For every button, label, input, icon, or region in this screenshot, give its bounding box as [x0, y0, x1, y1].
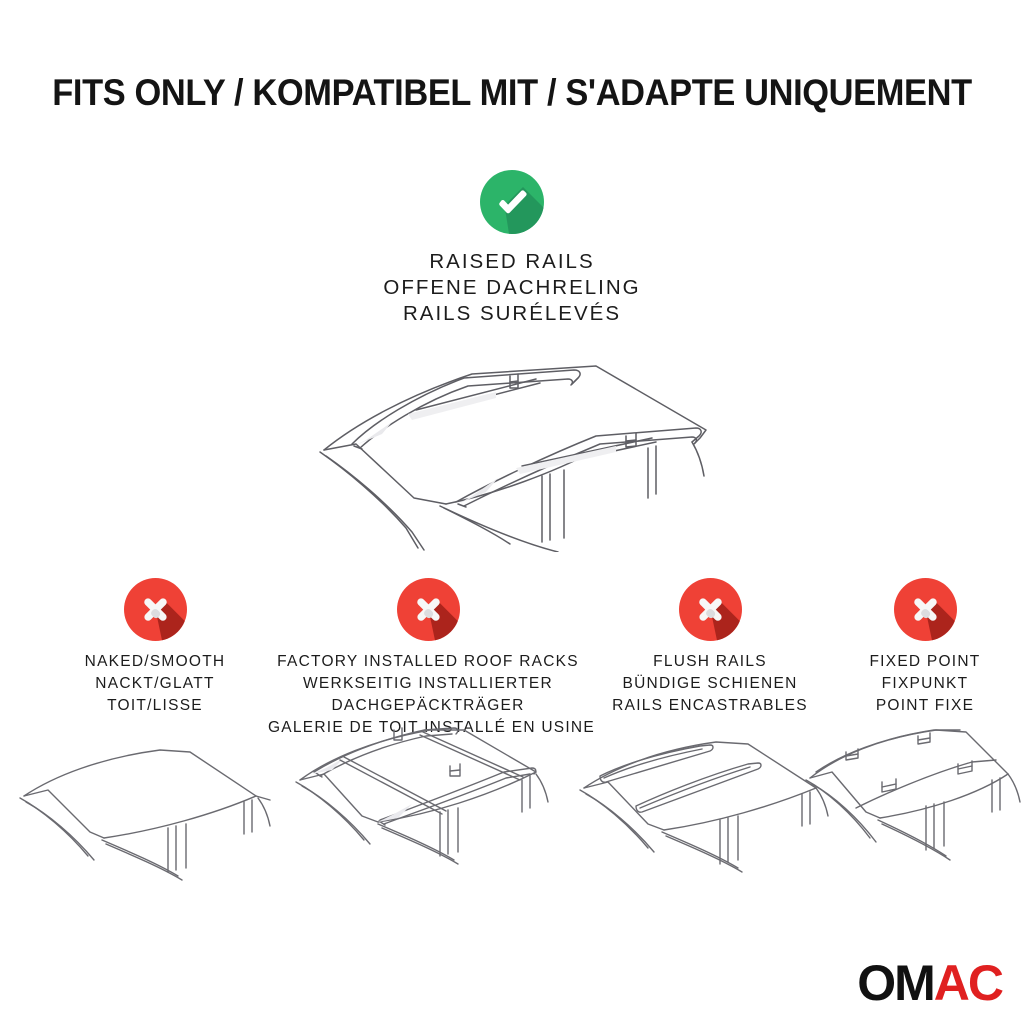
compatible-labels: RAISED RAILS OFFENE DACHRELING RAILS SUR… — [0, 249, 1024, 327]
roof-with-crossbars-illustration — [282, 722, 578, 917]
page-title: FITS ONLY / KOMPATIBEL MIT / S'ADAPTE UN… — [36, 72, 988, 114]
naked-smooth-label-en: NAKED/SMOOTH — [28, 651, 282, 673]
compatible-label-fr: RAILS SURÉLEVÉS — [0, 301, 1024, 327]
incompatible-item-fixed-point: FIXED POINT FIXPUNKT POINT FIXE — [830, 578, 1020, 717]
check-circle-icon — [480, 170, 544, 234]
factory-racks-label-en: FACTORY INSTALLED ROOF RACKS — [268, 651, 588, 673]
factory-racks-label-de-2: DACHGEPÄCKTRÄGER — [268, 695, 588, 717]
naked-smooth-label-fr: TOIT/LISSE — [28, 695, 282, 717]
flush-rails-label-en: FLUSH RAILS — [592, 651, 828, 673]
cross-circle-icon — [679, 578, 742, 641]
raised-rails-roof-illustration — [296, 352, 716, 552]
incompatible-item-factory-racks: FACTORY INSTALLED ROOF RACKS WERKSEITIG … — [268, 578, 588, 739]
fixed-point-labels: FIXED POINT FIXPUNKT POINT FIXE — [830, 651, 1020, 717]
bare-roof-illustration — [8, 740, 284, 915]
cross-circle-icon — [894, 578, 957, 641]
incompatible-item-flush-rails: FLUSH RAILS BÜNDIGE SCHIENEN RAILS ENCAS… — [592, 578, 828, 717]
flush-rails-label-fr: RAILS ENCASTRABLES — [592, 695, 828, 717]
cross-circle-icon — [397, 578, 460, 641]
naked-smooth-labels: NAKED/SMOOTH NACKT/GLATT TOIT/LISSE — [28, 651, 282, 717]
fixed-point-label-de: FIXPUNKT — [830, 673, 1020, 695]
compatible-label-en: RAISED RAILS — [0, 249, 1024, 275]
compatible-label-de: OFFENE DACHRELING — [0, 275, 1024, 301]
compatible-section: RAISED RAILS OFFENE DACHRELING RAILS SUR… — [0, 170, 1024, 327]
fixed-point-label-en: FIXED POINT — [830, 651, 1020, 673]
fixed-point-roof-illustration — [800, 722, 1024, 912]
cross-circle-icon — [124, 578, 187, 641]
fixed-point-label-fr: POINT FIXE — [830, 695, 1020, 717]
flush-rails-label-de: BÜNDIGE SCHIENEN — [592, 673, 828, 695]
omac-logo: OMAC — [857, 960, 1002, 1006]
factory-racks-label-de-1: WERKSEITIG INSTALLIERTER — [268, 673, 588, 695]
logo-text-om: OM — [857, 960, 934, 1006]
naked-smooth-label-de: NACKT/GLATT — [28, 673, 282, 695]
logo-text-ac: AC — [934, 960, 1002, 1006]
flush-rails-labels: FLUSH RAILS BÜNDIGE SCHIENEN RAILS ENCAS… — [592, 651, 828, 717]
incompatible-item-naked-smooth: NAKED/SMOOTH NACKT/GLATT TOIT/LISSE — [28, 578, 282, 717]
